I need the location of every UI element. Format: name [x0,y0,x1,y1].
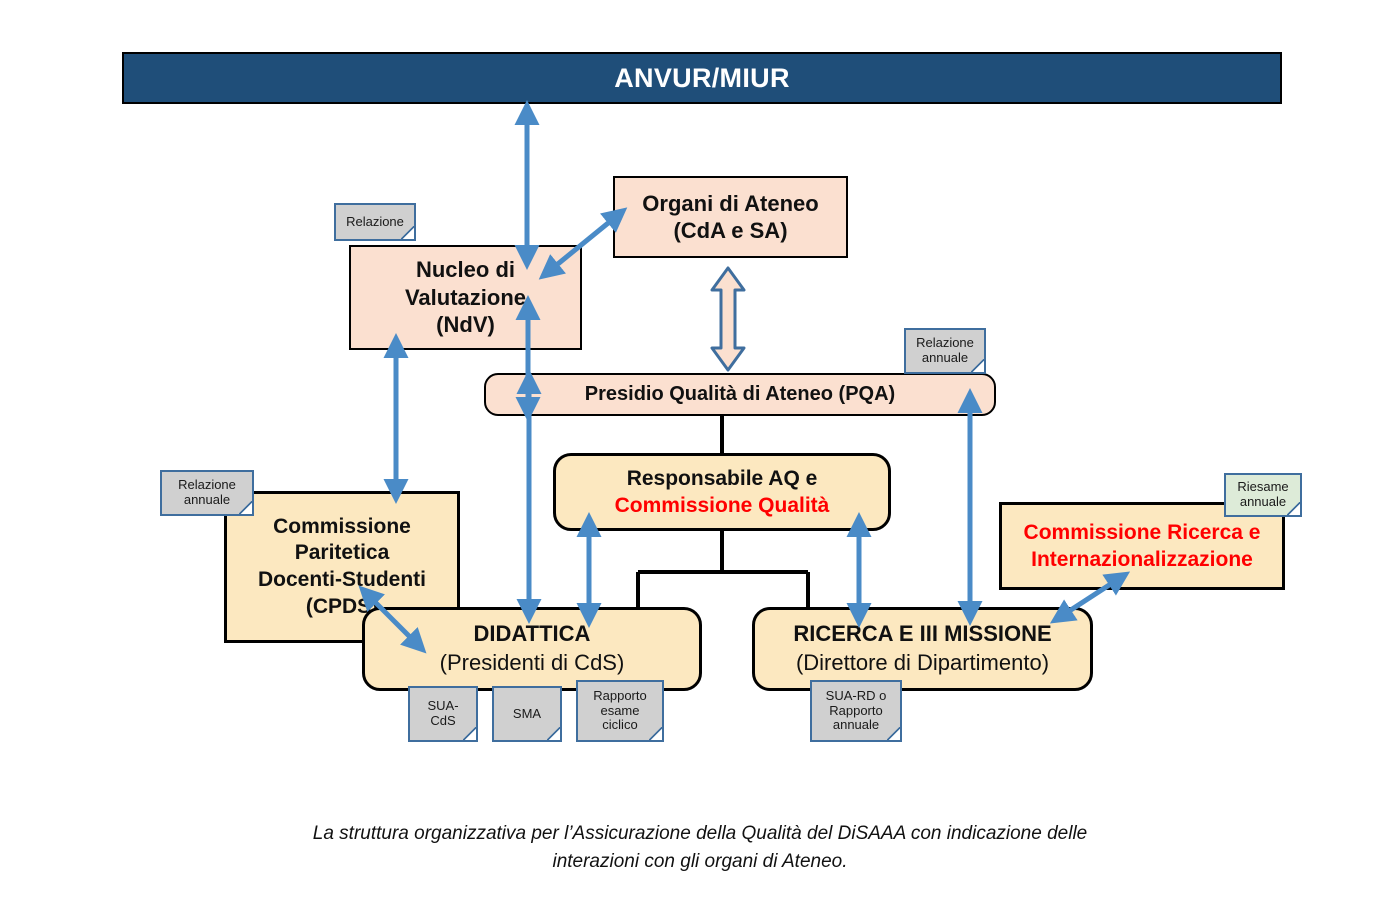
note-relazione-annuale-cpds[interactable]: Relazione annuale [160,470,254,516]
commissione-ricerca-line-2: Internazionalizzazione [1008,546,1276,573]
note-sua-rd[interactable]: SUA-RD o Rapporto annuale [810,680,902,742]
note-sua-cds-line-1: SUA- [427,699,458,714]
anvur-miur-banner[interactable]: ANVUR/MIUR [122,52,1282,104]
anvur-miur-label: ANVUR/MIUR [124,63,1280,94]
ricerca-line-1: RICERCA E III MISSIONE [761,620,1084,649]
ndv-line-2: Valutazione [357,284,574,312]
responsabile-aq-box[interactable]: Responsabile AQ e Commissione Qualità [553,453,891,531]
note-rapporto-esame-ciclico[interactable]: Rapporto esame ciclico [576,680,664,742]
organi-line-1: Organi di Ateneo [621,190,840,218]
note-rapporto-line-1: Rapporto [593,689,646,704]
cpds-line-1: Commissione [233,514,451,541]
ndv-line-3: (NdV) [357,311,574,339]
caption-line-2: interazioni con gli organi di Ateneo. [250,848,1150,876]
note-riesame-line-2: annuale [1237,495,1288,510]
figure-caption: La struttura organizzativa per l’Assicur… [250,820,1150,875]
block-arrow-organi-pqa [712,268,744,370]
note-sua-cds[interactable]: SUA- CdS [408,686,478,742]
note-rapporto-line-3: ciclico [593,718,646,733]
note-sma[interactable]: SMA [492,686,562,742]
caption-line-1: La struttura organizzativa per l’Assicur… [250,820,1150,848]
note-cpds-line-1: Relazione [178,478,236,493]
note-sua-cds-line-2: CdS [427,714,458,729]
nucleo-di-valutazione-box[interactable]: Nucleo di Valutazione (NdV) [349,245,582,350]
commissione-qualita-label: Commissione Qualità [562,492,882,519]
didattica-line-2: (Presidenti di CdS) [371,649,693,678]
pqa-label: Presidio Qualità di Ateneo (PQA) [486,383,994,406]
note-pqa-line-1: Relazione [916,336,974,351]
note-sua-rd-line-1: SUA-RD o [826,689,887,704]
diagram-canvas: ANVUR/MIUR Organi di Ateneo (CdA e SA) N… [0,0,1395,906]
commissione-ricerca-line-1: Commissione Ricerca e [1008,519,1276,546]
pqa-box[interactable]: Presidio Qualità di Ateneo (PQA) [484,373,996,416]
note-sma-label: SMA [509,705,545,724]
note-sua-rd-line-2: Rapporto [826,704,887,719]
note-relazione-ndv[interactable]: Relazione [334,203,416,241]
didattica-box[interactable]: DIDATTICA (Presidenti di CdS) [362,607,702,691]
note-riesame-line-1: Riesame [1237,480,1288,495]
cpds-line-2: Paritetica [233,540,451,567]
note-rapporto-line-2: esame [593,704,646,719]
didattica-line-1: DIDATTICA [371,620,693,649]
ndv-line-1: Nucleo di [357,256,574,284]
note-pqa-line-2: annuale [916,351,974,366]
organi-line-2: (CdA e SA) [621,217,840,245]
organi-di-ateneo-box[interactable]: Organi di Ateneo (CdA e SA) [613,176,848,258]
ricerca-line-2: (Direttore di Dipartimento) [761,649,1084,678]
note-sua-rd-line-3: annuale [826,718,887,733]
note-relazione-annuale-pqa[interactable]: Relazione annuale [904,328,986,374]
responsabile-line-1: Responsabile AQ e [562,465,882,492]
cpds-line-3: Docenti-Studenti [233,567,451,594]
note-riesame-annuale[interactable]: Riesame annuale [1224,473,1302,517]
note-relazione-ndv-label: Relazione [342,213,408,232]
ricerca-box[interactable]: RICERCA E III MISSIONE (Direttore di Dip… [752,607,1093,691]
note-cpds-line-2: annuale [178,493,236,508]
